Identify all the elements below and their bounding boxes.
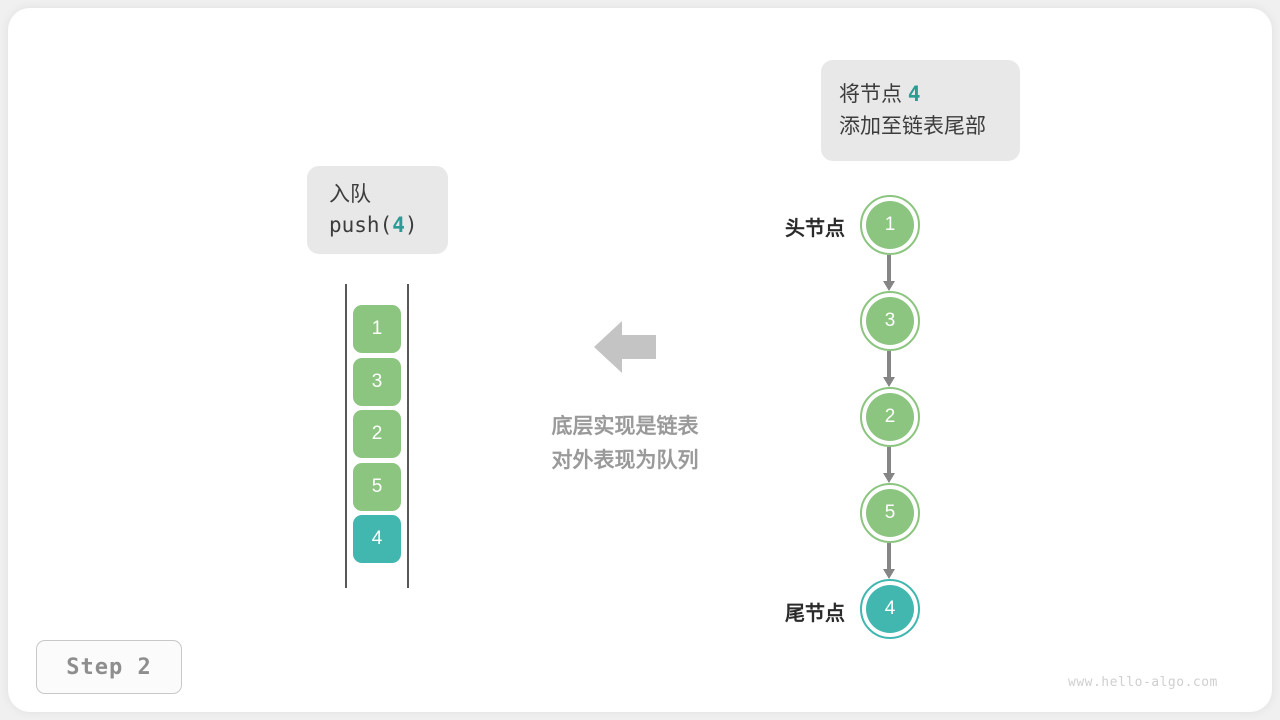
queue-item: 4 xyxy=(353,515,401,563)
append-line1-value: 4 xyxy=(908,82,921,106)
queue-item-value: 5 xyxy=(372,476,383,498)
linked-list: 13254 xyxy=(780,190,1000,650)
push-code-value: 4 xyxy=(392,213,405,237)
list-node-value: 4 xyxy=(866,585,914,633)
queue-item-value: 3 xyxy=(372,371,383,393)
queue-rail-right xyxy=(407,284,409,588)
arrow-shaft xyxy=(887,447,891,473)
append-callout: 将节点 4 添加至链表尾部 xyxy=(821,60,1020,161)
middle-note-line1: 底层实现是链表 xyxy=(520,410,730,444)
list-node: 3 xyxy=(860,291,920,351)
queue-item: 2 xyxy=(353,410,401,458)
push-callout: 入队 push(4) xyxy=(307,166,448,254)
diagram-canvas: 入队 push(4) 将节点 4 添加至链表尾部 13254 13254 头节点… xyxy=(0,0,1280,720)
arrow-head xyxy=(883,281,895,291)
arrow-shaft xyxy=(887,543,891,569)
queue-rail-left xyxy=(345,284,347,588)
tail-node-label: 尾节点 xyxy=(785,597,845,626)
append-callout-line1: 将节点 4 xyxy=(839,79,1020,111)
arrow-head xyxy=(883,473,895,483)
push-callout-code: push(4) xyxy=(329,210,448,242)
queue-item: 3 xyxy=(353,358,401,406)
append-callout-line2: 添加至链表尾部 xyxy=(839,111,1020,143)
list-node: 1 xyxy=(860,195,920,255)
watermark: www.hello-algo.com xyxy=(1068,675,1218,690)
arrow-head xyxy=(883,569,895,579)
queue-item-value: 2 xyxy=(372,423,383,445)
queue-column: 13254 xyxy=(345,284,409,588)
middle-note: 底层实现是链表 对外表现为队列 xyxy=(520,410,730,478)
arrow-shaft xyxy=(887,255,891,281)
queue-item-value: 4 xyxy=(372,528,383,550)
push-code-prefix: push( xyxy=(329,213,392,237)
left-arrow-icon xyxy=(594,321,656,373)
list-node-value: 2 xyxy=(866,393,914,441)
queue-item: 5 xyxy=(353,463,401,511)
arrow-head xyxy=(883,377,895,387)
list-node: 5 xyxy=(860,483,920,543)
list-node-value: 3 xyxy=(866,297,914,345)
append-line1-prefix: 将节点 xyxy=(839,83,908,106)
step-badge: Step 2 xyxy=(36,640,182,694)
list-node: 2 xyxy=(860,387,920,447)
push-callout-line1: 入队 xyxy=(329,179,448,211)
list-node-value: 5 xyxy=(866,489,914,537)
head-node-label: 头节点 xyxy=(785,212,845,241)
list-node: 4 xyxy=(860,579,920,639)
push-code-suffix: ) xyxy=(405,213,418,237)
middle-note-line2: 对外表现为队列 xyxy=(520,444,730,478)
list-node-value: 1 xyxy=(866,201,914,249)
queue-item: 1 xyxy=(353,305,401,353)
arrow-shaft xyxy=(887,351,891,377)
queue-item-value: 1 xyxy=(372,318,383,340)
